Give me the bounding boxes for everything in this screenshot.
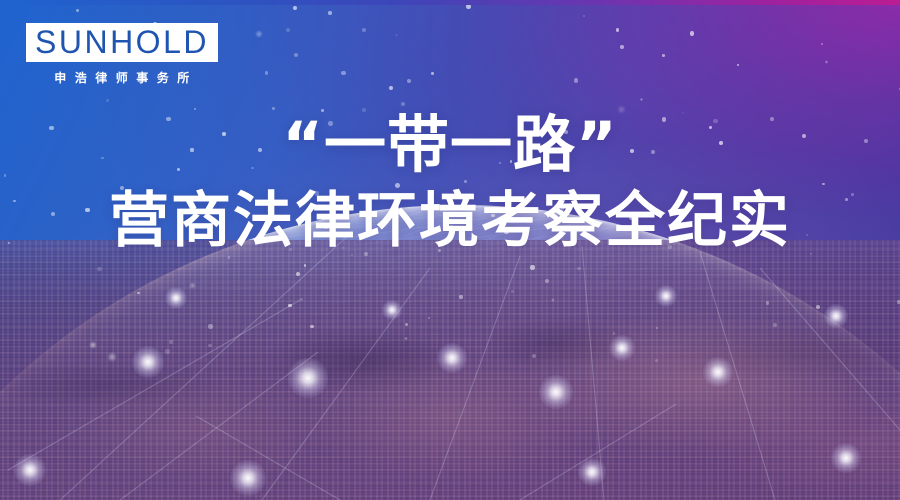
star-particle: [620, 45, 624, 49]
star-particle: [328, 11, 331, 14]
star-particle: [766, 301, 770, 305]
star-particle: [107, 352, 117, 362]
top-accent-strip: [0, 0, 900, 5]
star-particle: [690, 31, 694, 35]
star-particle: [825, 60, 829, 64]
star-particle: [304, 264, 307, 267]
star-particle: [265, 71, 268, 74]
network-node-glow: [165, 287, 187, 309]
star-particle: [194, 108, 196, 110]
star-particle: [816, 305, 820, 309]
star-particle: [583, 15, 585, 17]
star-particle: [296, 272, 300, 276]
star-particle: [551, 298, 555, 302]
star-particle: [300, 298, 303, 301]
star-particle: [255, 30, 263, 38]
headline-block: “一带一路” 营商法律环境考察全纪实: [0, 112, 900, 254]
network-node-glow: [437, 343, 467, 373]
star-particle: [821, 43, 823, 45]
star-particle: [405, 323, 408, 326]
brand-logo[interactable]: SUNHOLD 申浩律师事务所: [26, 23, 218, 86]
star-particle: [656, 327, 658, 329]
title-line-primary: “一带一路”: [0, 112, 900, 177]
network-node-glow: [578, 458, 606, 486]
network-node-glow: [609, 335, 635, 361]
star-particle: [286, 28, 290, 32]
star-particle: [76, 9, 79, 12]
star-particle: [401, 102, 405, 106]
star-particle: [288, 304, 292, 308]
star-particle: [431, 72, 433, 74]
network-node-glow: [382, 300, 402, 320]
star-particle: [106, 99, 108, 101]
star-particle: [341, 71, 345, 75]
star-particle: [89, 341, 97, 349]
star-particle: [272, 107, 275, 110]
logo-wordmark: SUNHOLD: [35, 26, 209, 58]
network-node-glow: [132, 346, 164, 378]
network-node-glow: [230, 460, 266, 496]
star-particle: [294, 53, 298, 57]
star-particle: [662, 54, 665, 57]
star-particle: [577, 267, 581, 271]
promo-banner: SUNHOLD 申浩律师事务所 “一带一路” 营商法律环境考察全纪实: [0, 0, 900, 500]
network-node-glow: [655, 285, 677, 307]
star-particle: [737, 64, 740, 67]
star-particle: [407, 79, 411, 83]
star-particle: [97, 267, 101, 271]
star-particle: [773, 323, 777, 327]
star-particle: [208, 344, 212, 348]
network-node-glow: [539, 375, 573, 409]
star-particle: [459, 295, 462, 298]
star-particle: [395, 34, 398, 37]
star-particle: [137, 292, 140, 295]
star-particle: [613, 332, 616, 335]
star-particle: [545, 279, 549, 283]
network-node-glow: [288, 358, 328, 398]
logo-subtitle: 申浩律师事务所: [26, 69, 218, 86]
star-particle: [208, 324, 213, 329]
star-particle: [189, 282, 196, 289]
star-particle: [655, 359, 658, 362]
star-particle: [293, 6, 297, 10]
star-particle: [165, 349, 169, 353]
star-particle: [362, 28, 366, 32]
network-node-glow: [703, 357, 733, 387]
star-particle: [530, 265, 535, 270]
star-particle: [511, 290, 514, 293]
star-particle: [228, 256, 230, 258]
star-particle: [616, 28, 620, 32]
star-particle: [169, 340, 173, 344]
title-line-secondary: 营商法律环境考察全纪实: [0, 189, 900, 254]
star-particle: [404, 337, 407, 340]
star-particle: [310, 325, 314, 329]
logo-wordmark-box: SUNHOLD: [26, 23, 218, 62]
star-particle: [640, 98, 644, 102]
star-particle: [532, 354, 537, 359]
star-particle: [574, 78, 578, 82]
network-node-glow: [831, 443, 861, 473]
network-node-glow: [824, 304, 848, 328]
star-particle: [389, 86, 393, 90]
star-particle: [428, 317, 430, 319]
network-node-glow: [14, 454, 46, 486]
